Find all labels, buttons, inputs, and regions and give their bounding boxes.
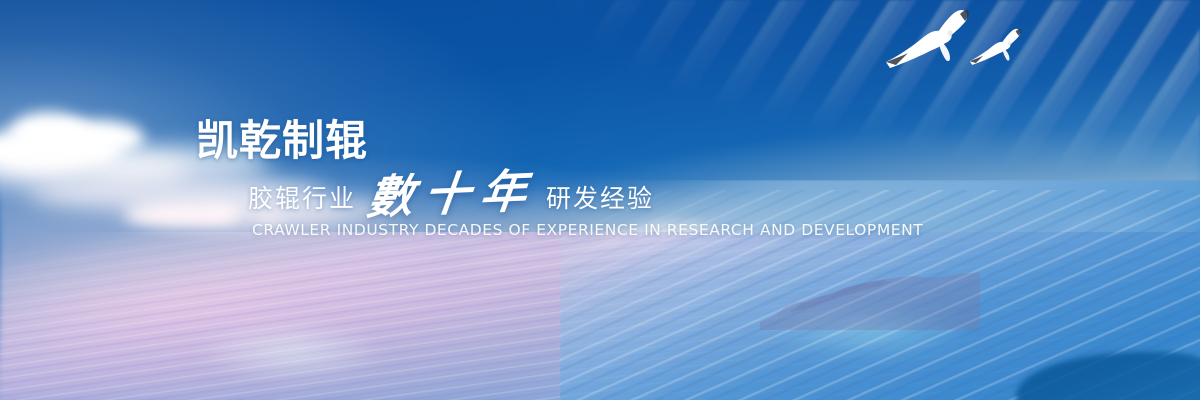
seagull-group (880, 2, 1050, 82)
banner-text-block: 凯乾制辊 胶辊行业 數十年 研发经验 CRAWLER INDUSTRY DECA… (196, 118, 876, 240)
subtitle-kicker-right: 研发经验 (546, 184, 654, 214)
hero-banner: 凯乾制辊 胶辊行业 數十年 研发经验 CRAWLER INDUSTRY DECA… (0, 0, 1200, 400)
iridescent-green-patch (170, 316, 410, 388)
calligraphy-highlight: 數十年 (365, 166, 540, 221)
seagull-small (970, 29, 1021, 65)
banner-headline: 凯乾制辊 (196, 118, 876, 164)
subtitle-kicker-left: 胶辊行业 (248, 184, 356, 214)
island-silhouette (760, 270, 980, 330)
seagull-large (886, 10, 969, 68)
banner-subtitle-row: 胶辊行业 數十年 研发经验 (248, 167, 876, 215)
banner-english-tagline: CRAWLER INDUSTRY DECADES OF EXPERIENCE I… (252, 221, 876, 240)
